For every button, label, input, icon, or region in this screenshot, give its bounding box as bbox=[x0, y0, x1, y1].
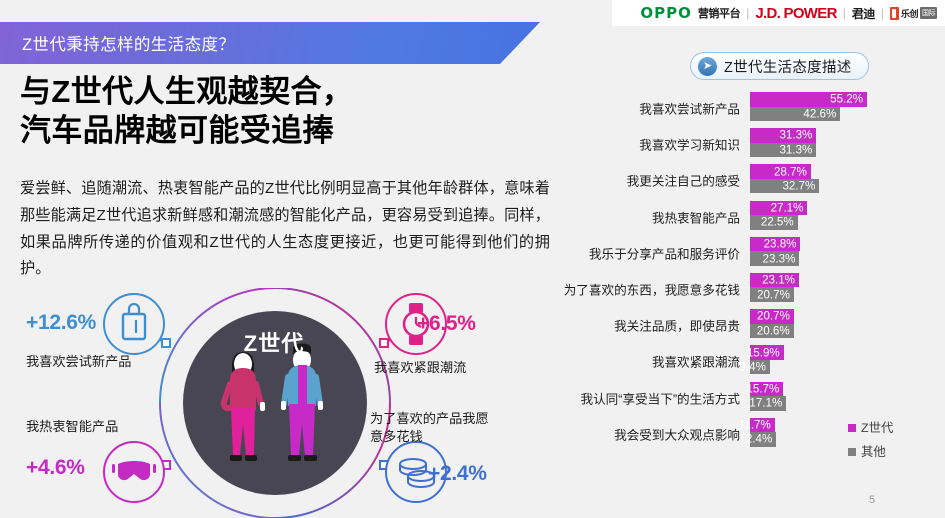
page-number: 5 bbox=[869, 494, 875, 506]
info-node-bottom-right-value: +2.4% bbox=[428, 462, 487, 486]
legend-label-z-generation: Z世代 bbox=[861, 416, 893, 440]
chart-category-label: 我认同“享受当下”的生活方式 bbox=[580, 388, 740, 407]
chart-category-label: 我热衷智能产品 bbox=[652, 207, 740, 226]
chart-bar-value: 32.7% bbox=[782, 180, 815, 193]
chart-bar-value: 17.1% bbox=[749, 397, 782, 410]
info-node-bottom-left-value: +4.6% bbox=[26, 456, 85, 480]
chart-bar-group: 23.8%23.3% bbox=[750, 237, 800, 266]
chart-bar-z-generation: 20.7% bbox=[750, 309, 794, 324]
chart-category-label: 为了喜欢的东西，我愿意多花钱 bbox=[564, 280, 740, 299]
chart-category-label: 我会受到大众观点影响 bbox=[614, 424, 740, 443]
oppo-marketing-platform-label: 营销平台 bbox=[698, 5, 740, 21]
chart-bar-value: 27.1% bbox=[771, 201, 804, 214]
lezhi-logo-text: 乐创 bbox=[901, 7, 918, 20]
logo-divider-2: | bbox=[843, 6, 846, 20]
chart-bar-value: 23.8% bbox=[764, 238, 797, 251]
chart-bar-group: 23.1%20.7% bbox=[750, 273, 799, 302]
chart-bar-others: 12.4% bbox=[750, 432, 776, 447]
info-node-bottom-right-label: 为了喜欢的产品我愿意多花钱 bbox=[370, 410, 500, 446]
chart-category-label: 我关注品质，即使昂贵 bbox=[614, 316, 740, 335]
chart-bar-value: 11.7% bbox=[739, 418, 771, 431]
legend-label-others: 其他 bbox=[861, 440, 886, 464]
legend-item-z-generation: Z世代 bbox=[848, 416, 893, 440]
chart-bar-value: 20.7% bbox=[757, 288, 790, 301]
chart-category-label: 我喜欢学习新知识 bbox=[639, 135, 740, 154]
chart-row: 我喜欢学习新知识31.3%31.3% bbox=[560, 126, 945, 162]
chart-bar-z-generation: 31.3% bbox=[750, 128, 816, 143]
chart-bar-others: 17.1% bbox=[750, 396, 786, 411]
chart-bar-group: 27.1%22.5% bbox=[750, 201, 807, 230]
chart-row: 我喜欢紧跟潮流15.9%9.4% bbox=[560, 343, 945, 379]
chart-bar-value: 12.4% bbox=[739, 433, 772, 446]
info-node-top-left-value: +12.6% bbox=[26, 311, 96, 335]
chart-bar-others: 31.3% bbox=[750, 143, 816, 158]
chart-row: 为了喜欢的东西，我愿意多花钱23.1%20.7% bbox=[560, 271, 945, 307]
chart-bar-others: 9.4% bbox=[750, 360, 770, 375]
logo-divider-3: | bbox=[881, 6, 884, 20]
info-node-bottom-left-label: 我热衷智能产品 bbox=[26, 418, 118, 436]
chart-bar-others: 23.3% bbox=[750, 251, 799, 266]
oppo-logo: OPPO bbox=[640, 4, 692, 22]
chart-row: 我热衷智能产品27.1%22.5% bbox=[560, 199, 945, 235]
info-node-top-right-label: 我喜欢紧跟潮流 bbox=[374, 359, 466, 377]
chart-bar-group: 20.7%20.6% bbox=[750, 309, 794, 338]
jundi-logo: 君迪 bbox=[852, 5, 875, 22]
vr-headset-icon bbox=[104, 442, 164, 502]
chart-bar-z-generation: 28.7% bbox=[750, 164, 811, 179]
shopping-bag-icon bbox=[104, 294, 164, 354]
chart-bar-value: 20.6% bbox=[757, 324, 790, 337]
chart-category-label: 我乐于分享产品和服务评价 bbox=[589, 243, 740, 262]
chart-bar-group: 15.9%9.4% bbox=[750, 345, 784, 374]
chart-bar-value: 28.7% bbox=[774, 165, 807, 178]
chart-bar-others: 42.6% bbox=[750, 107, 840, 122]
chart-title-badge: ➤ Z世代生活态度描述 bbox=[690, 52, 869, 80]
legend-swatch-others bbox=[848, 448, 856, 456]
headline-line-2: 汽车品牌越可能受追捧 bbox=[20, 113, 334, 148]
chevron-right-circle-icon: ➤ bbox=[698, 57, 717, 76]
chart-legend: Z世代 其他 bbox=[848, 416, 893, 464]
headline-line-1: 与Z世代人生观越契合， bbox=[20, 74, 353, 109]
lezhi-mark-icon bbox=[890, 7, 899, 20]
chart-row: 我更关注自己的感受28.7%32.7% bbox=[560, 162, 945, 198]
lezhi-logo: 乐创 国际 bbox=[890, 7, 937, 20]
chart-bar-z-generation: 27.1% bbox=[750, 201, 807, 216]
chart-row: 我乐于分享产品和服务评价23.8%23.3% bbox=[560, 235, 945, 271]
chart-bar-value: 23.3% bbox=[763, 252, 796, 265]
brand-logo-bar: OPPO 营销平台 | J.D. POWER | 君迪 | 乐创 国际 bbox=[612, 0, 945, 26]
chart-bar-group: 28.7%32.7% bbox=[750, 164, 819, 193]
chart-row: 我喜欢尝试新产品55.2%42.6% bbox=[560, 90, 945, 126]
chart-row: 我认同“享受当下”的生活方式15.7%17.1% bbox=[560, 380, 945, 416]
jd-power-logo: J.D. POWER bbox=[755, 5, 836, 22]
legend-item-others: 其他 bbox=[848, 440, 893, 464]
chart-bar-value: 20.7% bbox=[757, 310, 790, 323]
banner-eyebrow-text: Z世代秉持怎样的生活态度？ bbox=[22, 31, 235, 55]
chart-bar-group: 55.2%42.6% bbox=[750, 92, 867, 121]
chart-bar-value: 31.3% bbox=[779, 143, 812, 156]
chart-bar-z-generation: 55.2% bbox=[750, 92, 867, 107]
chart-bar-z-generation: 23.1% bbox=[750, 273, 799, 288]
chart-bar-value: 55.2% bbox=[830, 93, 863, 106]
logo-divider-1: | bbox=[746, 6, 749, 20]
chart-bar-value: 31.3% bbox=[779, 129, 812, 142]
chart-bar-value: 15.9% bbox=[747, 346, 780, 359]
chart-bar-value: 22.5% bbox=[761, 216, 794, 229]
chart-bar-z-generation: 15.7% bbox=[750, 382, 783, 397]
info-node-top-right-value: +6.5% bbox=[417, 312, 476, 336]
chart-bar-group: 15.7%17.1% bbox=[750, 382, 786, 411]
chart-bar-others: 22.5% bbox=[750, 215, 798, 230]
body-paragraph: 爱尝鲜、追随潮流、热衷智能产品的Z世代比例明显高于其他年龄群体，意味着那些能满足… bbox=[20, 176, 550, 283]
section-banner: Z世代秉持怎样的生活态度？ bbox=[0, 22, 560, 64]
chart-bar-value: 15.7% bbox=[746, 382, 779, 395]
page-title: 与Z世代人生观越契合， 汽车品牌越可能受追捧 bbox=[20, 72, 540, 151]
chart-category-label: 我喜欢紧跟潮流 bbox=[652, 352, 740, 371]
chart-bar-others: 20.6% bbox=[750, 324, 794, 339]
chart-bar-group: 31.3%31.3% bbox=[750, 128, 816, 157]
chart-bar-others: 20.7% bbox=[750, 287, 794, 302]
center-circle-label: Z世代 bbox=[214, 326, 334, 358]
chart-bar-z-generation: 11.7% bbox=[750, 418, 775, 433]
chart-bar-z-generation: 15.9% bbox=[750, 345, 784, 360]
lezhi-logo-badge: 国际 bbox=[920, 7, 937, 19]
chart-category-label: 我喜欢尝试新产品 bbox=[639, 99, 740, 118]
chart-category-label: 我更关注自己的感受 bbox=[627, 171, 740, 190]
info-node-top-left-label: 我喜欢尝试新产品 bbox=[26, 353, 132, 371]
chart-title-text: Z世代生活态度描述 bbox=[724, 56, 852, 77]
chart-bar-value: 23.1% bbox=[762, 274, 795, 287]
legend-swatch-z-generation bbox=[848, 424, 856, 432]
chart-bar-z-generation: 23.8% bbox=[750, 237, 800, 252]
chart-row: 我关注品质，即使昂贵20.7%20.6% bbox=[560, 307, 945, 343]
chart-bar-others: 32.7% bbox=[750, 179, 819, 194]
chart-bar-group: 11.7%12.4% bbox=[750, 418, 776, 447]
chart-bar-value: 9.4% bbox=[739, 361, 765, 374]
chart-bar-value: 42.6% bbox=[803, 107, 836, 120]
